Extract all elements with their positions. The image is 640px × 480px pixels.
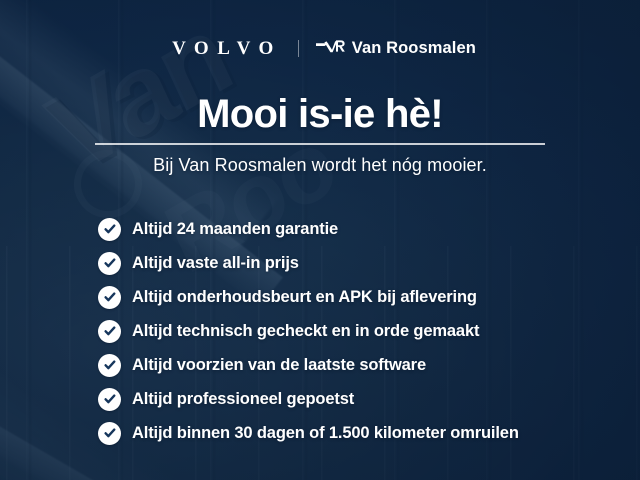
benefit-label: Altijd 24 maanden garantie (132, 221, 338, 238)
list-item: Altijd onderhoudsbeurt en APK bij afleve… (98, 280, 628, 314)
logo-divider (298, 40, 299, 57)
benefit-label: Altijd binnen 30 dagen of 1.500 kilomete… (132, 425, 519, 442)
banner-content: VOLVO Van Roosmalen Mooi is-ie hè! Bij V… (0, 0, 640, 480)
benefit-label: Altijd onderhoudsbeurt en APK bij afleve… (132, 289, 477, 306)
check-circle-icon (98, 354, 121, 377)
dealer-logo-lockup: Van Roosmalen (315, 38, 476, 58)
check-circle-icon (98, 422, 121, 445)
list-item: Altijd vaste all-in prijs (98, 246, 628, 280)
benefit-label: Altijd vaste all-in prijs (132, 255, 299, 272)
list-item: Altijd professioneel gepoetst (98, 382, 628, 416)
promo-banner: Van Roo VOLVO Van Roosmalen Mooi is-ie (0, 0, 640, 480)
logo-bar: VOLVO Van Roosmalen (0, 38, 640, 58)
check-circle-icon (98, 320, 121, 343)
list-item: Altijd voorzien van de laatste software (98, 348, 628, 382)
benefit-label: Altijd technisch gecheckt en in orde gem… (132, 323, 479, 340)
page-title: Mooi is-ie hè! (0, 94, 640, 134)
benefits-list: Altijd 24 maanden garantie Altijd vaste … (98, 212, 628, 450)
check-circle-icon (98, 252, 121, 275)
dealer-name: Van Roosmalen (352, 40, 476, 57)
list-item: Altijd technisch gecheckt en in orde gem… (98, 314, 628, 348)
title-divider (95, 143, 545, 145)
check-circle-icon (98, 286, 121, 309)
volvo-wordmark: VOLVO (164, 39, 282, 58)
benefit-label: Altijd voorzien van de laatste software (132, 357, 426, 374)
list-item: Altijd binnen 30 dagen of 1.500 kilomete… (98, 416, 628, 450)
check-circle-icon (98, 218, 121, 241)
vr-monogram-icon (315, 38, 345, 58)
page-subtitle: Bij Van Roosmalen wordt het nóg mooier. (0, 156, 640, 174)
check-circle-icon (98, 388, 121, 411)
list-item: Altijd 24 maanden garantie (98, 212, 628, 246)
benefit-label: Altijd professioneel gepoetst (132, 391, 354, 408)
